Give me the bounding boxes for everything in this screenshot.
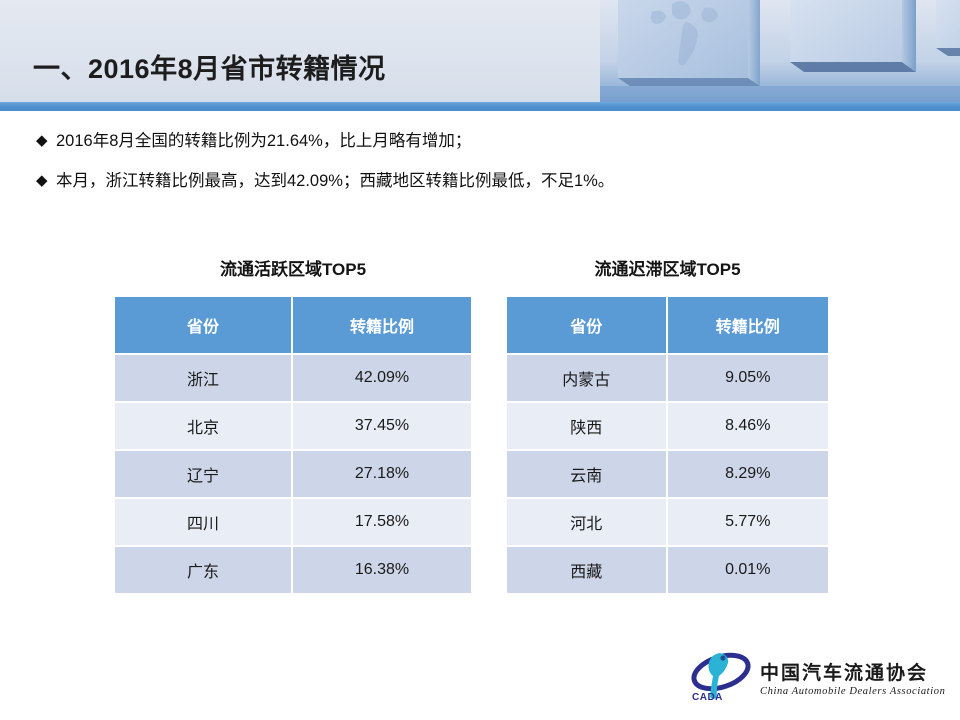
cell-province: 西藏 — [507, 547, 668, 595]
table-row: 四川 17.58% — [115, 499, 471, 547]
cell-province: 内蒙古 — [507, 355, 668, 403]
table-row: 云南 8.29% — [507, 451, 828, 499]
table-header-row: 省份 转籍比例 — [115, 297, 471, 355]
cell-ratio: 8.29% — [668, 451, 829, 499]
cell-province: 辽宁 — [115, 451, 293, 499]
bullet-text: 2016年8月全国的转籍比例为21.64%，比上月略有增加； — [56, 128, 471, 154]
cell-ratio: 8.46% — [668, 403, 829, 451]
active-regions-table-block: 流通活跃区域TOP5 省份 转籍比例 浙江 42.09% 北京 37.45% 辽… — [115, 255, 471, 595]
header-decoration-cubes — [600, 0, 960, 102]
logo-english-name: China Automobile Dealers Association — [760, 686, 945, 697]
table-caption-stagnant: 流通迟滞区域TOP5 — [507, 255, 828, 280]
cell-province: 广东 — [115, 547, 293, 595]
column-header-province: 省份 — [115, 297, 293, 355]
cell-ratio: 0.01% — [668, 547, 829, 595]
column-header-province: 省份 — [507, 297, 668, 355]
active-regions-table: 省份 转籍比例 浙江 42.09% 北京 37.45% 辽宁 27.18% — [115, 297, 471, 595]
cell-ratio: 37.45% — [293, 403, 471, 451]
stagnant-regions-table-block: 流通迟滞区域TOP5 省份 转籍比例 内蒙古 9.05% 陕西 8.46% 云南 — [507, 255, 828, 595]
table-row: 内蒙古 9.05% — [507, 355, 828, 403]
cell-ratio: 9.05% — [668, 355, 829, 403]
cell-province: 云南 — [507, 451, 668, 499]
cell-ratio: 5.77% — [668, 499, 829, 547]
diamond-bullet-icon: ◆ — [36, 168, 56, 194]
cada-wordmark: 中国汽车流通协会 China Automobile Dealers Associ… — [760, 658, 945, 697]
slide-header: 一、2016年8月省市转籍情况 — [0, 0, 960, 102]
cada-logo: CADA 中国汽车流通协会 China Automobile Dealers A… — [690, 648, 950, 706]
bullet-list: ◆ 2016年8月全国的转籍比例为21.64%，比上月略有增加； ◆ 本月，浙江… — [36, 128, 916, 208]
column-header-ratio: 转籍比例 — [668, 297, 829, 355]
cell-ratio: 42.09% — [293, 355, 471, 403]
cell-ratio: 16.38% — [293, 547, 471, 595]
table-row: 浙江 42.09% — [115, 355, 471, 403]
diamond-bullet-icon: ◆ — [36, 128, 56, 154]
cell-province: 四川 — [115, 499, 293, 547]
table-header-row: 省份 转籍比例 — [507, 297, 828, 355]
cada-abbr-text: CADA — [692, 692, 723, 703]
cell-province: 北京 — [115, 403, 293, 451]
column-header-ratio: 转籍比例 — [293, 297, 471, 355]
cell-province: 陕西 — [507, 403, 668, 451]
table-row: 辽宁 27.18% — [115, 451, 471, 499]
cada-emblem-icon: CADA — [690, 651, 756, 703]
list-item: ◆ 2016年8月全国的转籍比例为21.64%，比上月略有增加； — [36, 128, 916, 154]
cell-ratio: 17.58% — [293, 499, 471, 547]
header-divider-rule — [0, 102, 960, 111]
table-caption-active: 流通活跃区域TOP5 — [115, 255, 471, 280]
table-row: 西藏 0.01% — [507, 547, 828, 595]
table-row: 河北 5.77% — [507, 499, 828, 547]
table-row: 陕西 8.46% — [507, 403, 828, 451]
list-item: ◆ 本月，浙江转籍比例最高，达到42.09%；西藏地区转籍比例最低，不足1%。 — [36, 168, 916, 194]
page-title: 一、2016年8月省市转籍情况 — [33, 47, 386, 86]
table-row: 广东 16.38% — [115, 547, 471, 595]
cell-province: 浙江 — [115, 355, 293, 403]
logo-chinese-name: 中国汽车流通协会 — [760, 658, 945, 685]
cell-ratio: 27.18% — [293, 451, 471, 499]
stagnant-regions-table: 省份 转籍比例 内蒙古 9.05% 陕西 8.46% 云南 8.29% — [507, 297, 828, 595]
cell-province: 河北 — [507, 499, 668, 547]
table-row: 北京 37.45% — [115, 403, 471, 451]
bullet-text: 本月，浙江转籍比例最高，达到42.09%；西藏地区转籍比例最低，不足1%。 — [56, 168, 614, 194]
